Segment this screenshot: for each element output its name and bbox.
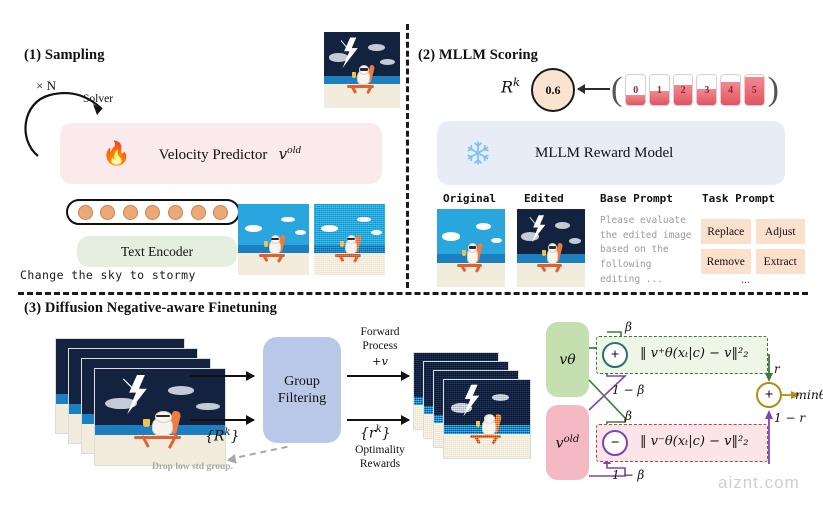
base-prompt-text: Please evaluate the edited image based o… bbox=[600, 214, 692, 288]
token-dot bbox=[145, 205, 160, 220]
section-2-title: (2) MLLM Scoring bbox=[418, 47, 538, 64]
r-weight-label: r bbox=[774, 362, 780, 376]
column-header-base-prompt: Base Prompt bbox=[600, 192, 673, 205]
text-encoder-panel: Text Encoder bbox=[77, 236, 237, 267]
token-dot bbox=[78, 205, 93, 220]
watermark-text: aiznt.com bbox=[718, 473, 800, 493]
group-filtering-box: Group Filtering bbox=[263, 337, 341, 443]
v-theta-box: vθ bbox=[546, 322, 589, 397]
mllm-reward-model-label: MLLM Reward Model bbox=[535, 145, 673, 162]
one-minus-beta-label-top: 1 − β bbox=[612, 383, 644, 397]
reward-score-circle: 0.6 bbox=[531, 68, 575, 112]
flame-icon: 🔥 bbox=[102, 142, 131, 165]
section-1-title: (1) Sampling bbox=[24, 47, 105, 64]
task-cell-extract[interactable]: Extract bbox=[756, 249, 806, 274]
column-header-original: Original bbox=[443, 192, 496, 205]
loop-count-label: × N bbox=[36, 78, 56, 94]
optimality-rewards-label: Optimality Rewards bbox=[349, 443, 411, 472]
v-theta-label: vθ bbox=[559, 352, 575, 368]
task-cell-adjust[interactable]: Adjust bbox=[756, 219, 806, 244]
snowflake-icon bbox=[465, 140, 491, 166]
task-prompt-grid: Replace Adjust Remove Extract bbox=[701, 219, 805, 274]
score-bar: 3 bbox=[696, 74, 717, 106]
score-bar: 5 bbox=[744, 74, 765, 106]
reward-set-label: {Rk} bbox=[205, 427, 239, 445]
arrow-optimality-rewards bbox=[347, 419, 409, 421]
task-cell-remove[interactable]: Remove bbox=[701, 249, 751, 274]
v-old-label: vold bbox=[556, 434, 580, 452]
one-minus-beta-label-bottom: 1 − β bbox=[612, 468, 644, 482]
noised-image-stack bbox=[413, 352, 533, 464]
edited-image bbox=[517, 209, 585, 287]
score-bar: 2 bbox=[673, 74, 694, 106]
input-image-stack bbox=[55, 338, 230, 466]
velocity-predictor-label: Velocity Predictor vold bbox=[159, 144, 301, 164]
column-header-edited: Edited bbox=[524, 192, 564, 205]
section-3-title: (3) Diffusion Negative-aware Finetuning bbox=[24, 300, 277, 317]
clean-sample-image bbox=[238, 204, 309, 275]
beta-label-top: β bbox=[625, 320, 632, 334]
task-prompt-ellipsis: ... bbox=[741, 272, 750, 287]
minimize-objective-label: minθ bbox=[795, 387, 823, 402]
figure-canvas: (1) Sampling × N Solver 🔥 Velocity Predi… bbox=[0, 0, 823, 507]
velocity-predictor-panel: 🔥 Velocity Predictor vold bbox=[60, 123, 382, 184]
forward-process-label: Forward Process +v bbox=[351, 325, 409, 368]
beta-label-bottom: β bbox=[625, 409, 632, 423]
token-embedding-box bbox=[66, 199, 240, 225]
score-bar: 0 bbox=[625, 74, 646, 106]
minus-operator-icon: − bbox=[602, 430, 628, 456]
optimality-reward-symbol: {rk} bbox=[360, 424, 391, 442]
reward-symbol-label: Rk bbox=[501, 75, 520, 96]
plus-operator-icon: + bbox=[602, 342, 628, 368]
drop-low-std-note: Drop low std group. bbox=[152, 462, 233, 472]
positive-loss-formula: ‖ v⁺θ(xₜ|c) − v‖²₂ bbox=[640, 346, 748, 361]
solver-label: Solver bbox=[83, 93, 113, 105]
arrow-forward-process bbox=[347, 375, 409, 377]
score-aggregation-arrow bbox=[578, 88, 610, 90]
edit-prompt-text: Change the sky to stormy bbox=[20, 268, 196, 282]
sampled-image bbox=[324, 32, 400, 108]
mllm-reward-model-panel: MLLM Reward Model bbox=[437, 121, 785, 185]
text-encoder-label: Text Encoder bbox=[121, 244, 193, 260]
negative-loss-formula: ‖ v⁻θ(xₜ|c) − v‖²₂ bbox=[640, 434, 748, 449]
score-bar: 4 bbox=[720, 74, 741, 106]
original-image bbox=[437, 209, 505, 287]
one-minus-r-weight-label: 1 − r bbox=[774, 411, 805, 425]
token-dot bbox=[191, 205, 206, 220]
column-header-task-prompt: Task Prompt bbox=[702, 192, 775, 205]
score-bar-group: ( 0 1 2 3 4 5 ) bbox=[611, 70, 779, 110]
vertical-divider bbox=[406, 24, 409, 288]
token-dot bbox=[123, 205, 138, 220]
arrow-images-to-filter bbox=[190, 375, 254, 377]
token-dot bbox=[213, 205, 228, 220]
drop-feedback-arrow bbox=[228, 446, 287, 460]
bracket-open-icon: ( bbox=[611, 76, 622, 103]
bracket-close-icon: ) bbox=[768, 76, 779, 103]
v-old-box: vold bbox=[546, 405, 589, 480]
token-dot bbox=[168, 205, 183, 220]
arrow-rewards-to-filter bbox=[190, 419, 254, 421]
token-dot bbox=[100, 205, 115, 220]
task-cell-replace[interactable]: Replace bbox=[701, 219, 751, 244]
sum-operator-icon: + bbox=[756, 382, 782, 408]
noisy-sample-image bbox=[314, 204, 385, 275]
horizontal-divider bbox=[18, 292, 808, 295]
score-bar: 1 bbox=[649, 74, 670, 106]
